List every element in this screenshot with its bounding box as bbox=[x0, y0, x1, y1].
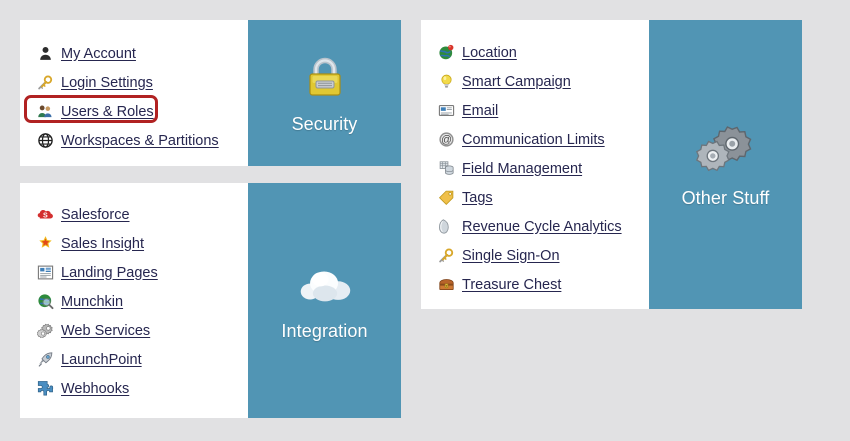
tile-security[interactable]: Security bbox=[248, 20, 401, 166]
gears-icon bbox=[36, 322, 54, 340]
lightbulb-icon bbox=[437, 73, 455, 91]
integration-link-list: S Salesforce Sales Insight bbox=[20, 183, 248, 418]
link-label[interactable]: Communication Limits bbox=[462, 132, 605, 148]
link-row-my-account[interactable]: My Account bbox=[20, 39, 248, 68]
link-label[interactable]: LaunchPoint bbox=[61, 352, 142, 368]
envelope-icon bbox=[437, 102, 455, 120]
admin-settings-page: My Account Login Settings bbox=[0, 0, 850, 441]
rocket-icon bbox=[36, 351, 54, 369]
other-stuff-link-list: Location Smart Campaign bbox=[421, 20, 649, 309]
users-group-icon bbox=[36, 103, 54, 121]
security-link-list: My Account Login Settings bbox=[20, 20, 248, 166]
link-label[interactable]: Smart Campaign bbox=[462, 74, 571, 90]
flame-star-icon bbox=[36, 235, 54, 253]
link-label[interactable]: Salesforce bbox=[61, 207, 130, 223]
link-row-users-and-roles[interactable]: Users & Roles bbox=[20, 97, 248, 126]
user-icon bbox=[36, 45, 54, 63]
link-row-field-management[interactable]: Field Management bbox=[421, 154, 649, 183]
link-label[interactable]: Workspaces & Partitions bbox=[61, 133, 219, 149]
card-integration: S Salesforce Sales Insight bbox=[20, 183, 401, 418]
gears-icon bbox=[695, 120, 757, 178]
link-label[interactable]: Login Settings bbox=[61, 75, 153, 91]
cloud-icon bbox=[297, 259, 353, 311]
link-label[interactable]: My Account bbox=[61, 46, 136, 62]
tile-label: Other Stuff bbox=[682, 188, 770, 209]
link-row-sales-insight[interactable]: Sales Insight bbox=[20, 229, 248, 258]
link-row-location[interactable]: Location bbox=[421, 38, 649, 67]
globe-pin-icon bbox=[437, 44, 455, 62]
link-label[interactable]: Field Management bbox=[462, 161, 582, 177]
link-label[interactable]: Web Services bbox=[61, 323, 150, 339]
link-row-salesforce[interactable]: S Salesforce bbox=[20, 200, 248, 229]
at-sign-icon: @ bbox=[437, 131, 455, 149]
link-row-web-services[interactable]: Web Services bbox=[20, 316, 248, 345]
link-row-single-sign-on[interactable]: Single Sign-On bbox=[421, 241, 649, 270]
svg-text:@: @ bbox=[441, 134, 452, 146]
link-label[interactable]: Users & Roles bbox=[61, 104, 154, 120]
link-row-smart-campaign[interactable]: Smart Campaign bbox=[421, 67, 649, 96]
link-row-treasure-chest[interactable]: Treasure Chest bbox=[421, 270, 649, 299]
link-row-revenue-cycle-analytics[interactable]: Revenue Cycle Analytics bbox=[421, 212, 649, 241]
link-row-workspaces-and-partitions[interactable]: Workspaces & Partitions bbox=[20, 126, 248, 155]
padlock-icon bbox=[297, 52, 353, 104]
page-layout-icon bbox=[36, 264, 54, 282]
link-row-launchpoint[interactable]: LaunchPoint bbox=[20, 345, 248, 374]
link-label[interactable]: Email bbox=[462, 103, 498, 119]
card-security: My Account Login Settings bbox=[20, 20, 401, 166]
database-stack-icon bbox=[437, 160, 455, 178]
link-row-login-settings[interactable]: Login Settings bbox=[20, 68, 248, 97]
tag-icon bbox=[437, 189, 455, 207]
tile-label: Security bbox=[292, 114, 358, 135]
link-label[interactable]: Single Sign-On bbox=[462, 248, 560, 264]
link-row-webhooks[interactable]: Webhooks bbox=[20, 374, 248, 403]
tile-integration[interactable]: Integration bbox=[248, 183, 401, 418]
keys-icon bbox=[36, 74, 54, 92]
link-row-email[interactable]: Email bbox=[421, 96, 649, 125]
funnel-icon bbox=[437, 218, 455, 236]
globe-magnifier-icon bbox=[36, 293, 54, 311]
tile-label: Integration bbox=[281, 321, 367, 342]
link-label[interactable]: Sales Insight bbox=[61, 236, 144, 252]
keys-icon bbox=[437, 247, 455, 265]
tile-other-stuff[interactable]: Other Stuff bbox=[649, 20, 802, 309]
link-label[interactable]: Tags bbox=[462, 190, 493, 206]
salesforce-cloud-icon: S bbox=[36, 206, 54, 224]
card-other-stuff: Location Smart Campaign bbox=[421, 20, 802, 309]
link-row-landing-pages[interactable]: Landing Pages bbox=[20, 258, 248, 287]
globe-grid-icon bbox=[36, 132, 54, 150]
link-row-munchkin[interactable]: Munchkin bbox=[20, 287, 248, 316]
svg-text:S: S bbox=[43, 212, 48, 220]
link-label[interactable]: Landing Pages bbox=[61, 265, 158, 281]
link-label[interactable]: Treasure Chest bbox=[462, 277, 561, 293]
puzzle-plus-icon bbox=[36, 380, 54, 398]
link-label[interactable]: Munchkin bbox=[61, 294, 123, 310]
link-row-communication-limits[interactable]: @ Communication Limits bbox=[421, 125, 649, 154]
link-row-tags[interactable]: Tags bbox=[421, 183, 649, 212]
link-label[interactable]: Revenue Cycle Analytics bbox=[462, 219, 622, 235]
link-label[interactable]: Location bbox=[462, 45, 517, 61]
link-label[interactable]: Webhooks bbox=[61, 381, 129, 397]
treasure-chest-icon bbox=[437, 276, 455, 294]
